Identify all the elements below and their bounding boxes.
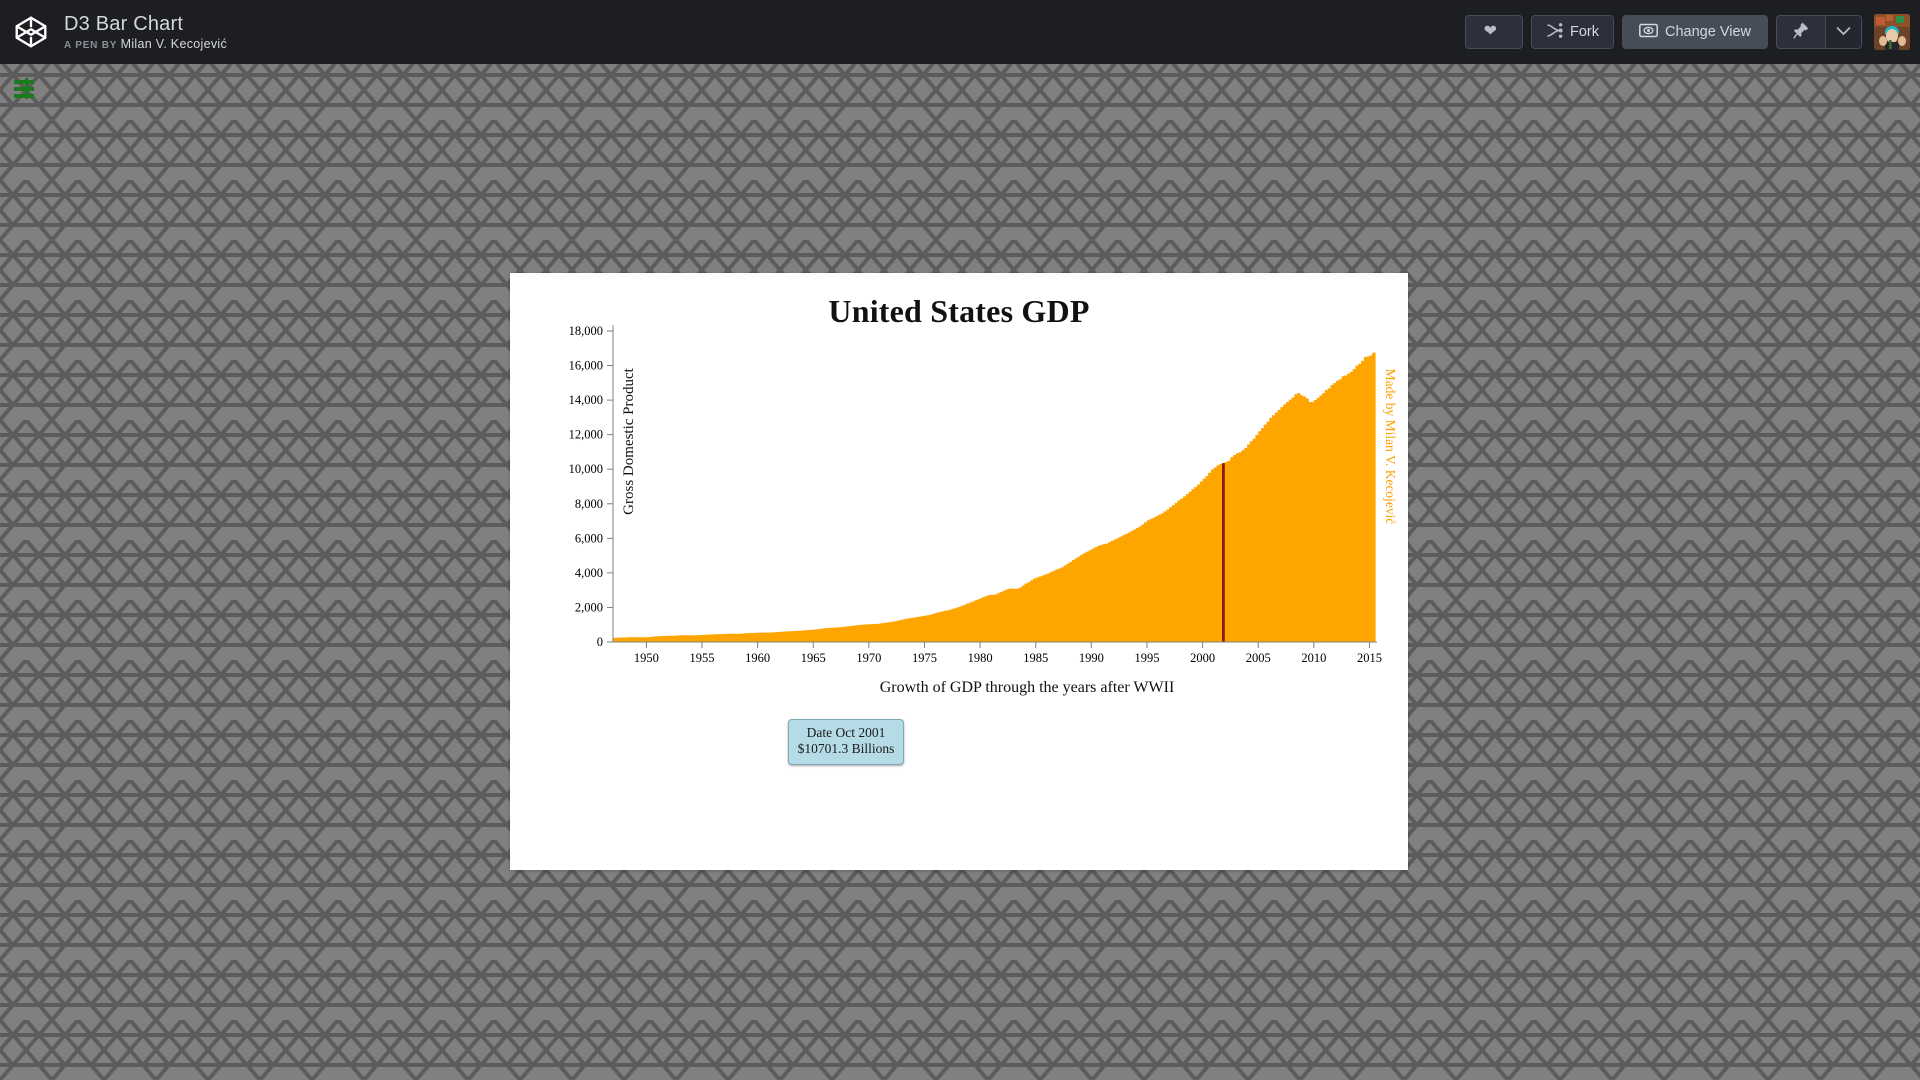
x-tick-label: 2015 [1357, 651, 1382, 665]
y-tick-label: 8,000 [575, 497, 603, 511]
y-tick-label: 18,000 [569, 324, 603, 338]
page-title: D3 Bar Chart [64, 13, 227, 35]
y-tick-label: 16,000 [569, 359, 603, 373]
x-tick-label: 1955 [689, 651, 714, 665]
y-tick-label: 6,000 [575, 531, 603, 545]
pin-button[interactable] [1776, 15, 1825, 49]
brand-block: D3 Bar Chart A PEN BY Milan V. Kecojević [0, 9, 227, 55]
x-tick-label: 1990 [1079, 651, 1104, 665]
x-tick-label: 1960 [745, 651, 770, 665]
fork-icon [1546, 23, 1563, 42]
chart-credit: Made by Milan V. Kecojević [1383, 369, 1398, 525]
pen-byline: A PEN BY Milan V. Kecojević [64, 38, 227, 52]
x-tick-label: 2010 [1301, 651, 1326, 665]
chevron-down-icon [1836, 24, 1851, 40]
y-tick-label: 10,000 [569, 462, 603, 476]
x-tick-label: 1995 [1134, 651, 1159, 665]
bar[interactable] [1372, 353, 1375, 642]
x-axis-caption: Growth of GDP through the years after WW… [880, 679, 1175, 696]
x-tick-label: 1970 [856, 651, 881, 665]
heart-icon: ❤ [1484, 24, 1497, 40]
love-button[interactable]: ❤ [1465, 15, 1523, 49]
codepen-logo-icon[interactable] [8, 9, 54, 55]
pin-icon [1793, 22, 1809, 43]
y-tick-label: 14,000 [569, 393, 603, 407]
eye-icon [1639, 23, 1658, 42]
x-tick-label: 1980 [968, 651, 993, 665]
y-tick-label: 0 [597, 635, 603, 649]
change-view-label: Change View [1665, 24, 1751, 40]
fork-label: Fork [1570, 24, 1599, 40]
hamburger-menu-icon[interactable] [12, 76, 38, 102]
x-tick-label: 2000 [1190, 651, 1215, 665]
y-tick-label: 12,000 [569, 428, 603, 442]
y-axis-label: Gross Domestic Product [621, 367, 637, 514]
x-tick-label: 1985 [1023, 651, 1048, 665]
x-tick-label: 1975 [912, 651, 937, 665]
pen-by-label: A PEN BY [64, 40, 117, 51]
pen-title-block: D3 Bar Chart A PEN BY Milan V. Kecojević [54, 13, 227, 52]
bars-group [613, 353, 1376, 642]
fork-button[interactable]: Fork [1531, 15, 1614, 49]
header-actions: ❤ Fork [1465, 14, 1920, 50]
chart-plot-area: 02,0004,0006,0008,00010,00012,00014,0001… [510, 273, 1408, 870]
x-tick-label: 2005 [1246, 651, 1271, 665]
pin-dropdown-button[interactable] [1825, 15, 1862, 49]
y-tick-label: 4,000 [575, 566, 603, 580]
change-view-button[interactable]: Change View [1622, 15, 1768, 49]
x-tick-label: 1950 [634, 651, 659, 665]
codepen-header-bar: D3 Bar Chart A PEN BY Milan V. Kecojević… [0, 0, 1920, 64]
avatar[interactable] [1874, 14, 1910, 50]
pen-author-link[interactable]: Milan V. Kecojević [121, 37, 227, 51]
pin-group [1776, 15, 1862, 49]
chart-card: United States GDP 02,0004,0006,0008,0001… [510, 273, 1408, 870]
y-tick-label: 2,000 [575, 600, 603, 614]
x-tick-label: 1965 [801, 651, 826, 665]
